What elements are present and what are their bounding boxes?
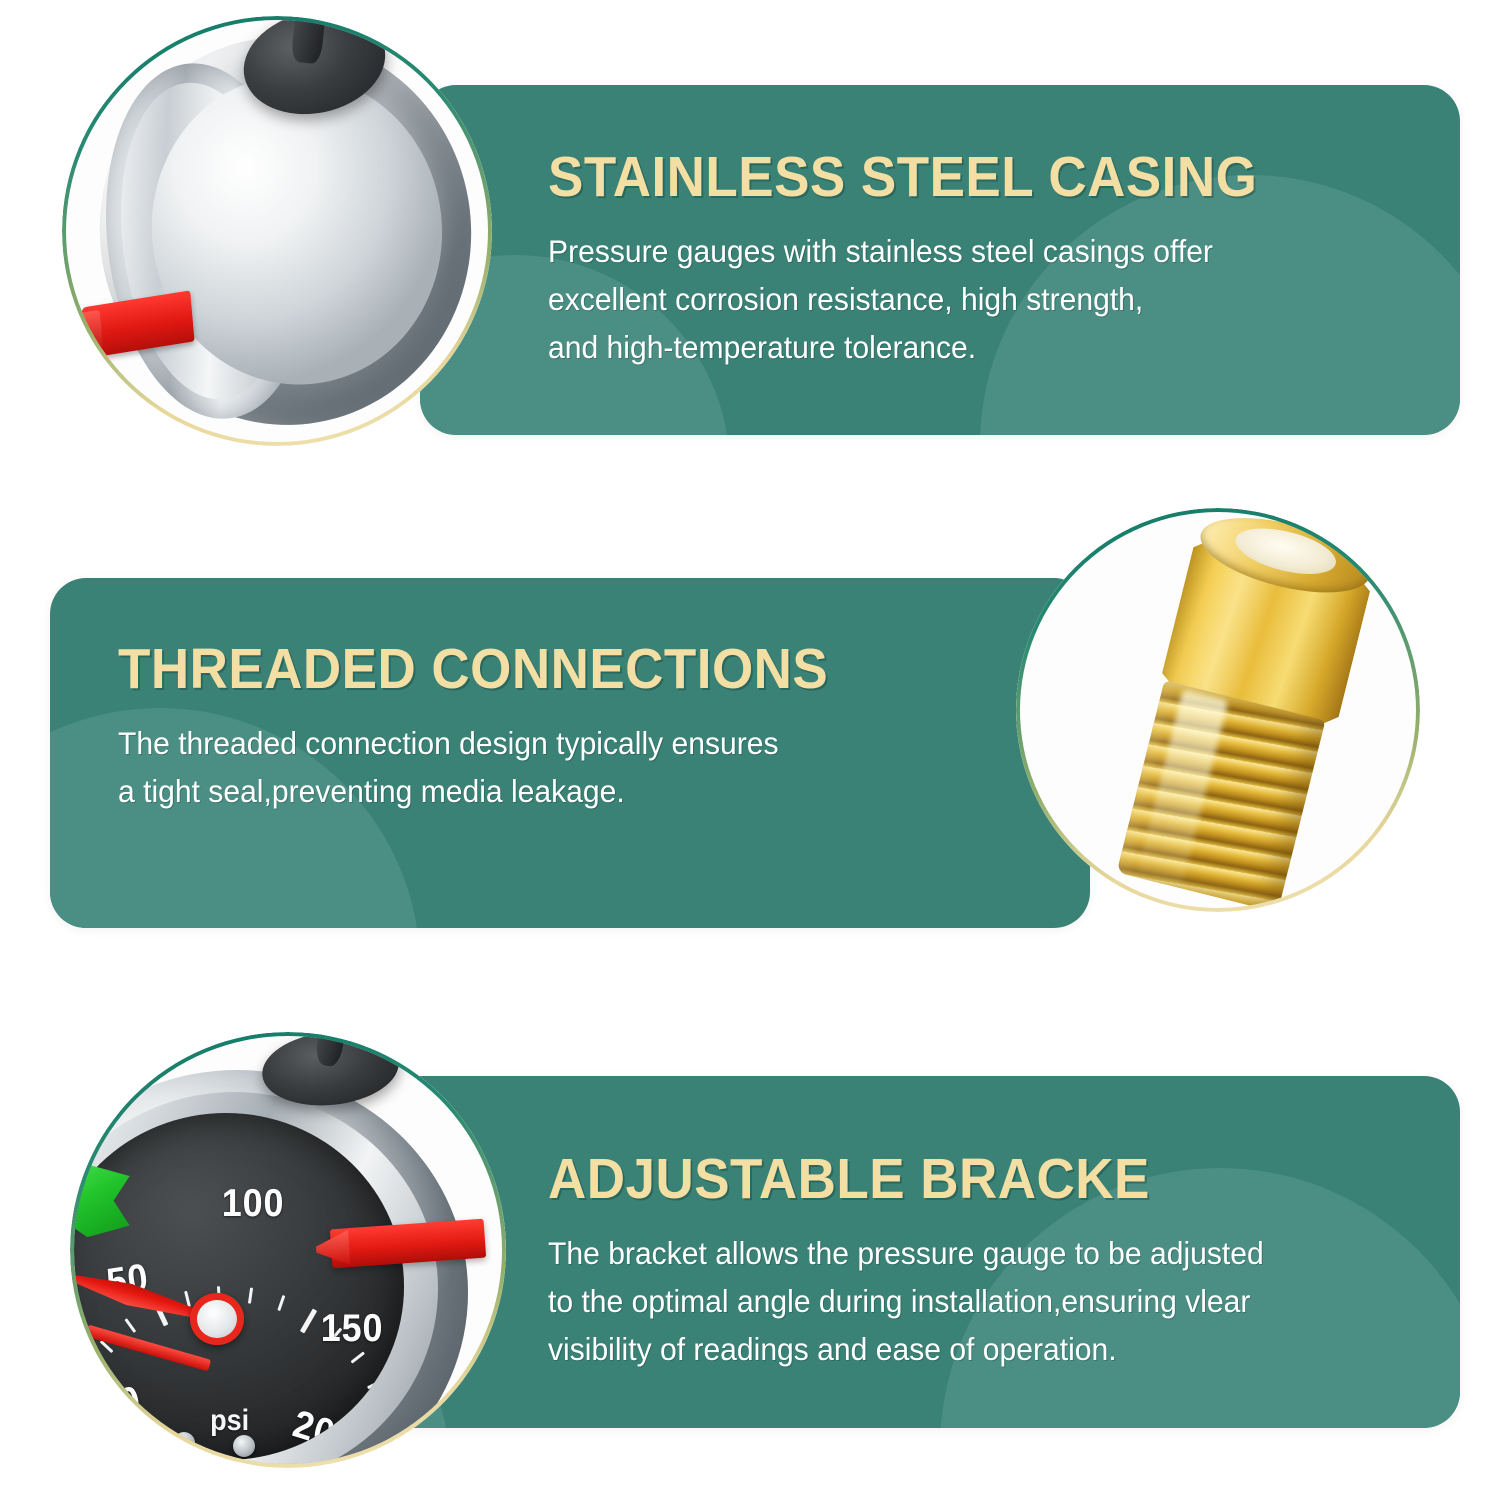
dial-number-150: 150	[321, 1307, 384, 1351]
feature-text-block-3: ADJUSTABLE BRACKE The bracket allows the…	[548, 1150, 1297, 1373]
feature-body-line: and high-temperature tolerance.	[548, 323, 1276, 371]
medallion-inner	[1020, 512, 1416, 908]
dial-screw	[233, 1435, 255, 1457]
medallion-inner	[66, 20, 488, 442]
feature-text-block-2: THREADED CONNECTIONS The threaded connec…	[118, 640, 882, 815]
feature-title-2: THREADED CONNECTIONS	[118, 640, 828, 699]
feature-body-line: excellent corrosion resistance, high str…	[548, 275, 1276, 323]
feature-title-3: ADJUSTABLE BRACKE	[548, 1150, 1245, 1209]
feature-body-line: visibility of readings and ease of opera…	[548, 1325, 1264, 1373]
brass-fitting-group	[1020, 512, 1416, 908]
feature-body-1: Pressure gauges with stainless steel cas…	[548, 227, 1276, 371]
feature-body-2: The threaded connection design typically…	[118, 719, 847, 815]
infographic-canvas: STAINLESS STEEL CASING Pressure gauges w…	[0, 0, 1500, 1500]
dial-screw	[173, 1432, 195, 1454]
gauge-needle-tail	[85, 1324, 211, 1371]
feature-body-line: Pressure gauges with stainless steel cas…	[548, 227, 1276, 275]
product-image-gauge-dial: 0 50 100 150 200 psi	[70, 1032, 506, 1468]
feature-text-block-1: STAINLESS STEEL CASING Pressure gauges w…	[548, 148, 1311, 371]
product-image-brass-fitting	[1016, 508, 1420, 912]
feature-body-line: a tight seal,preventing media leakage.	[118, 767, 847, 815]
product-image-stainless-steel-case	[62, 16, 492, 446]
dial-unit-label: psi	[210, 1404, 249, 1438]
feature-body-3: The bracket allows the pressure gauge to…	[548, 1229, 1264, 1373]
dial-number-100: 100	[222, 1182, 285, 1226]
gauge-needle-hub	[190, 1293, 243, 1345]
feature-title-1: STAINLESS STEEL CASING	[548, 148, 1257, 207]
feature-body-line: The threaded connection design typically…	[118, 719, 847, 767]
medallion-inner: 0 50 100 150 200 psi	[74, 1036, 502, 1464]
dial-screw	[134, 1422, 156, 1444]
feature-body-line: to the optimal angle during installation…	[548, 1277, 1264, 1325]
feature-body-line: The bracket allows the pressure gauge to…	[548, 1229, 1264, 1277]
